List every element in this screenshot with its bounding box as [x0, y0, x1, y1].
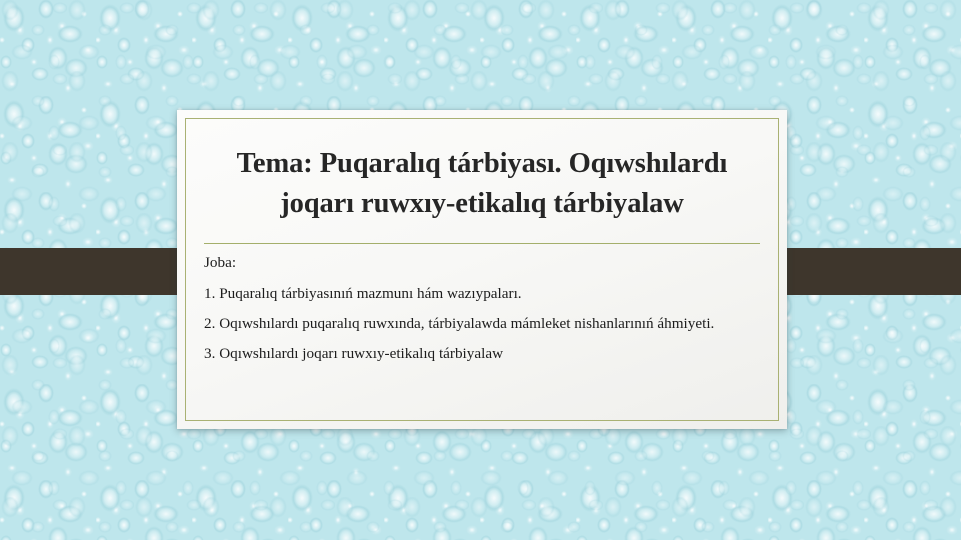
presentation-slide: Tema: Puqaralıq tárbiyası. Oqıwshılardı …: [0, 0, 961, 540]
slide-title: Tema: Puqaralıq tárbiyası. Oqıwshılardı …: [199, 110, 765, 224]
agenda-item-1: 1. Puqaralıq tárbiyasınıń mazmunı hám wa…: [204, 284, 760, 303]
agenda-item-3: 3. Oqıwshılardı joqarı ruwxıy-etikalıq t…: [204, 344, 760, 363]
body-lead-label: Joba:: [204, 253, 760, 272]
slide-content-card: Tema: Puqaralıq tárbiyası. Oqıwshılardı …: [177, 110, 787, 429]
slide-body: Joba: 1. Puqaralıq tárbiyasınıń mazmunı …: [199, 253, 765, 363]
ribbon-banner-right: [765, 248, 961, 295]
ribbon-banner-left: [0, 248, 192, 295]
agenda-item-2: 2. Oqıwshılardı puqaralıq ruwxında, tárb…: [204, 314, 760, 333]
title-divider: [204, 243, 760, 244]
card-content: Tema: Puqaralıq tárbiyası. Oqıwshılardı …: [177, 110, 787, 429]
